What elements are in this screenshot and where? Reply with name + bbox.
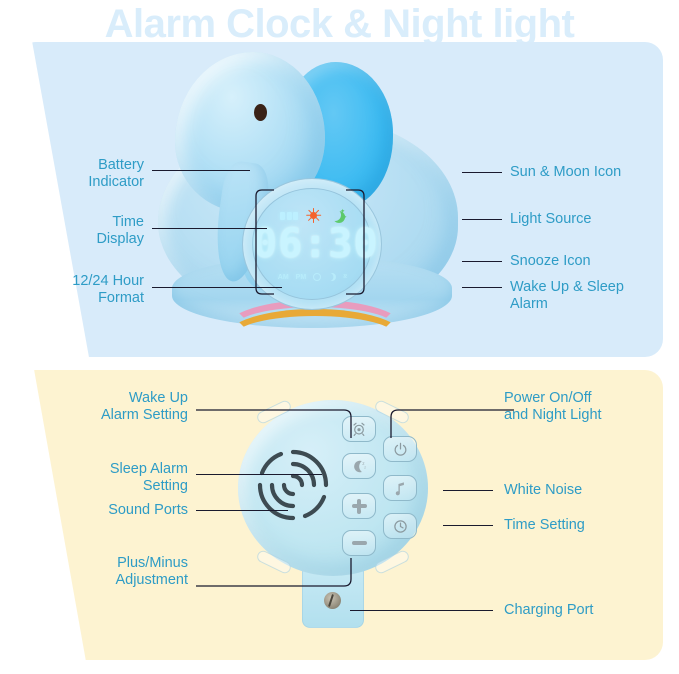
clock-icon: [393, 519, 408, 534]
label-charging-port: Charging Port: [504, 602, 672, 619]
label-wake-sleep-alarm: Wake Up & Sleep Alarm: [510, 279, 670, 313]
leader-white-noise: [443, 490, 493, 491]
leader-plus-minus: [196, 546, 362, 592]
label-power-night-light: Power On/Off and Night Light: [504, 390, 672, 424]
svg-text:z: z: [364, 465, 366, 469]
leader-sound-ports: [196, 510, 288, 511]
sound-ports-grille: [250, 442, 336, 528]
charging-port-icon: [324, 592, 341, 609]
leader-battery: [152, 170, 250, 171]
label-battery-indicator: Battery Indicator: [20, 157, 144, 191]
music-note-icon: [394, 481, 407, 496]
screen-callout-brackets: [234, 170, 390, 320]
leader-snooze: [462, 261, 502, 262]
label-plus-minus-adjustment: Plus/Minus Adjustment: [48, 555, 188, 589]
leader-sun-moon: [462, 172, 502, 173]
label-sound-ports: Sound Ports: [56, 502, 188, 519]
label-snooze-icon: Snooze Icon: [510, 253, 670, 270]
label-hour-format: 12/24 Hour Format: [10, 273, 144, 307]
infographic-root: Alarm Clock & Night light: [0, 0, 679, 674]
label-sun-moon-icon: Sun & Moon Icon: [510, 164, 670, 181]
label-time-display: Time Display: [20, 214, 144, 248]
elephant-eye: [254, 104, 267, 121]
time-setting-button[interactable]: [383, 513, 417, 539]
label-wake-up-alarm-setting: Wake Up Alarm Setting: [56, 390, 188, 424]
white-noise-button[interactable]: [383, 475, 417, 501]
leader-hour-format: [152, 287, 282, 288]
leader-light-source: [462, 219, 502, 220]
elephant-clock-front-illustration: ✦ ✦ 06:30 AM PM ᶻᶻ: [130, 30, 490, 360]
leader-wake-up-alarm: [196, 404, 362, 444]
leader-power-night-light: [384, 404, 514, 444]
leader-time-setting: [443, 525, 493, 526]
label-white-noise: White Noise: [504, 482, 672, 499]
label-light-source: Light Source: [510, 211, 670, 228]
sleep-alarm-button[interactable]: z z: [342, 453, 376, 479]
plus-button[interactable]: [342, 493, 376, 519]
plus-icon: [352, 504, 367, 509]
minus-icon: [352, 541, 367, 546]
label-time-setting: Time Setting: [504, 517, 672, 534]
label-sleep-alarm-setting: Sleep Alarm Setting: [56, 461, 188, 495]
leader-sleep-alarm: [196, 474, 322, 475]
leader-time-display: [152, 228, 267, 229]
leader-charging-port: [350, 610, 493, 611]
shell-tab-bottom-right: [373, 549, 411, 576]
moon-zzz-icon: z z: [351, 459, 368, 474]
leader-wake-sleep: [462, 287, 502, 288]
